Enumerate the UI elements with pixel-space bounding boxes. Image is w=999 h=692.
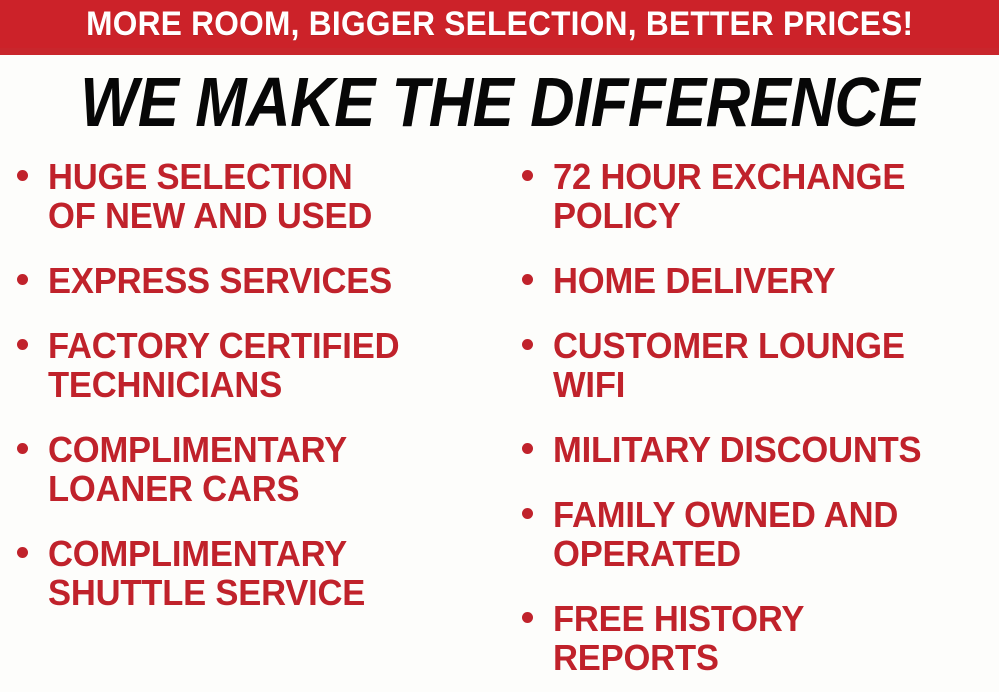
promo-banner-text: MORE ROOM, BIGGER SELECTION, BETTER PRIC…	[86, 7, 913, 41]
dealership-promo-poster: MORE ROOM, BIGGER SELECTION, BETTER PRIC…	[0, 0, 999, 692]
list-item-label: COMPLIMENTARY SHUTTLE SERVICE	[48, 534, 474, 612]
benefits-column-left: HUGE SELECTION OF NEW AND USED EXPRESS S…	[14, 157, 492, 638]
list-item: COMPLIMENTARY LOANER CARS	[14, 430, 492, 508]
bullet-dot-icon	[17, 274, 28, 285]
list-item: MILITARY DISCOUNTS	[519, 430, 999, 469]
list-item: FACTORY CERTIFIED TECHNICIANS	[14, 326, 492, 404]
list-item-label: HOME DELIVERY	[553, 261, 981, 300]
bullet-dot-icon	[17, 443, 28, 454]
list-item: FREE HISTORY REPORTS	[519, 599, 999, 677]
list-item: CUSTOMER LOUNGE WIFI	[519, 326, 999, 404]
list-item: HOME DELIVERY	[519, 261, 999, 300]
list-item-label: FAMILY OWNED AND OPERATED	[553, 495, 981, 573]
list-item: COMPLIMENTARY SHUTTLE SERVICE	[14, 534, 492, 612]
bullet-dot-icon	[17, 170, 28, 181]
bullet-dot-icon	[17, 547, 28, 558]
benefits-column-right: 72 HOUR EXCHANGE POLICY HOME DELIVERY CU…	[519, 157, 999, 692]
bullet-dot-icon	[522, 443, 533, 454]
list-item: EXPRESS SERVICES	[14, 261, 492, 300]
promo-banner-base-strip	[0, 48, 999, 55]
bullet-dot-icon	[522, 339, 533, 350]
promo-banner: MORE ROOM, BIGGER SELECTION, BETTER PRIC…	[0, 0, 999, 55]
list-item-label: FREE HISTORY REPORTS	[553, 599, 981, 677]
bullet-dot-icon	[522, 508, 533, 519]
list-item: FAMILY OWNED AND OPERATED	[519, 495, 999, 573]
list-item-label: HUGE SELECTION OF NEW AND USED	[48, 157, 474, 235]
list-item-label: FACTORY CERTIFIED TECHNICIANS	[48, 326, 474, 404]
bullet-dot-icon	[522, 274, 533, 285]
page-title: WE MAKE THE DIFFERENCE	[80, 67, 919, 137]
list-item-label: EXPRESS SERVICES	[48, 261, 474, 300]
bullet-dot-icon	[522, 612, 533, 623]
list-item-label: CUSTOMER LOUNGE WIFI	[553, 326, 981, 404]
list-item-label: MILITARY DISCOUNTS	[553, 430, 981, 469]
list-item-label: 72 HOUR EXCHANGE POLICY	[553, 157, 981, 235]
bullet-dot-icon	[17, 339, 28, 350]
bullet-dot-icon	[522, 170, 533, 181]
list-item: HUGE SELECTION OF NEW AND USED	[14, 157, 492, 235]
promo-banner-inner: MORE ROOM, BIGGER SELECTION, BETTER PRIC…	[0, 0, 999, 48]
benefits-columns: HUGE SELECTION OF NEW AND USED EXPRESS S…	[0, 157, 999, 692]
headline-container: WE MAKE THE DIFFERENCE	[0, 66, 999, 138]
list-item-label: COMPLIMENTARY LOANER CARS	[48, 430, 474, 508]
list-item: 72 HOUR EXCHANGE POLICY	[519, 157, 999, 235]
